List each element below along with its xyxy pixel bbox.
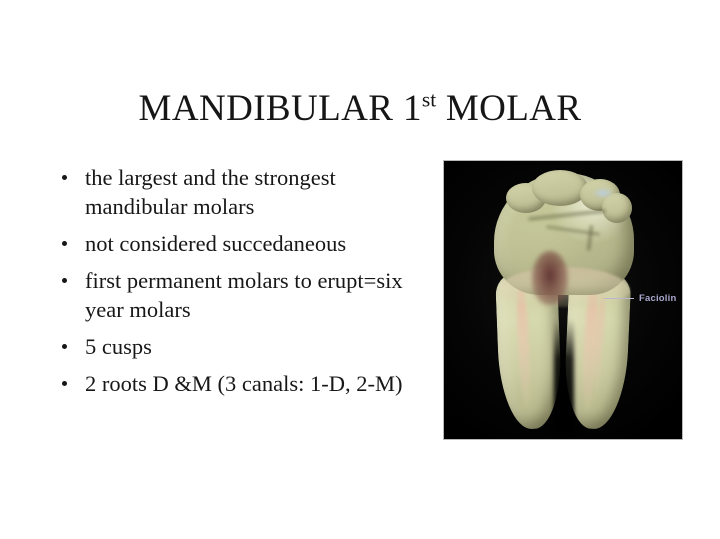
list-item-label: first permanent molars to erupt=six year… (85, 268, 403, 322)
root-furcation (554, 319, 574, 431)
list-item: 5 cusps (58, 332, 423, 361)
list-item-label: 2 roots D &M (3 canals: 1-D, 2-M) (85, 371, 402, 396)
cusp-buccal (532, 170, 588, 206)
pulp-chamber (532, 251, 568, 305)
list-item: the largest and the strongest mandibular… (58, 163, 423, 221)
callout-label: Faciolin (639, 293, 677, 304)
list-item: 2 roots D &M (3 canals: 1-D, 2-M) (58, 369, 423, 398)
bullet-dot-icon (62, 344, 67, 349)
bullet-dot-icon (62, 381, 67, 386)
bullet-list: the largest and the strongest mandibular… (58, 163, 423, 398)
bullet-dot-icon (62, 175, 67, 180)
title-main-after: MOLAR (436, 88, 581, 129)
list-item-label: the largest and the strongest mandibular… (85, 165, 336, 219)
bullet-dot-icon (62, 278, 67, 283)
title-main-before: MANDIBULAR 1 (139, 88, 422, 129)
tooth-photograph: Faciolin (443, 160, 683, 440)
list-item-label: not considered succedaneous (85, 231, 346, 256)
presentation-slide: MANDIBULAR 1st MOLAR the largest and the… (0, 0, 720, 539)
specular-highlight (592, 187, 614, 199)
page-title: MANDIBULAR 1st MOLAR (0, 89, 720, 130)
list-item-label: 5 cusps (85, 334, 152, 359)
photo-background: Faciolin (444, 161, 682, 439)
molar-tooth-illustration (488, 169, 640, 431)
list-item: not considered succedaneous (58, 229, 423, 258)
title-ordinal-suffix: st (422, 87, 436, 111)
bullet-dot-icon (62, 241, 67, 246)
list-item: first permanent molars to erupt=six year… (58, 266, 423, 324)
